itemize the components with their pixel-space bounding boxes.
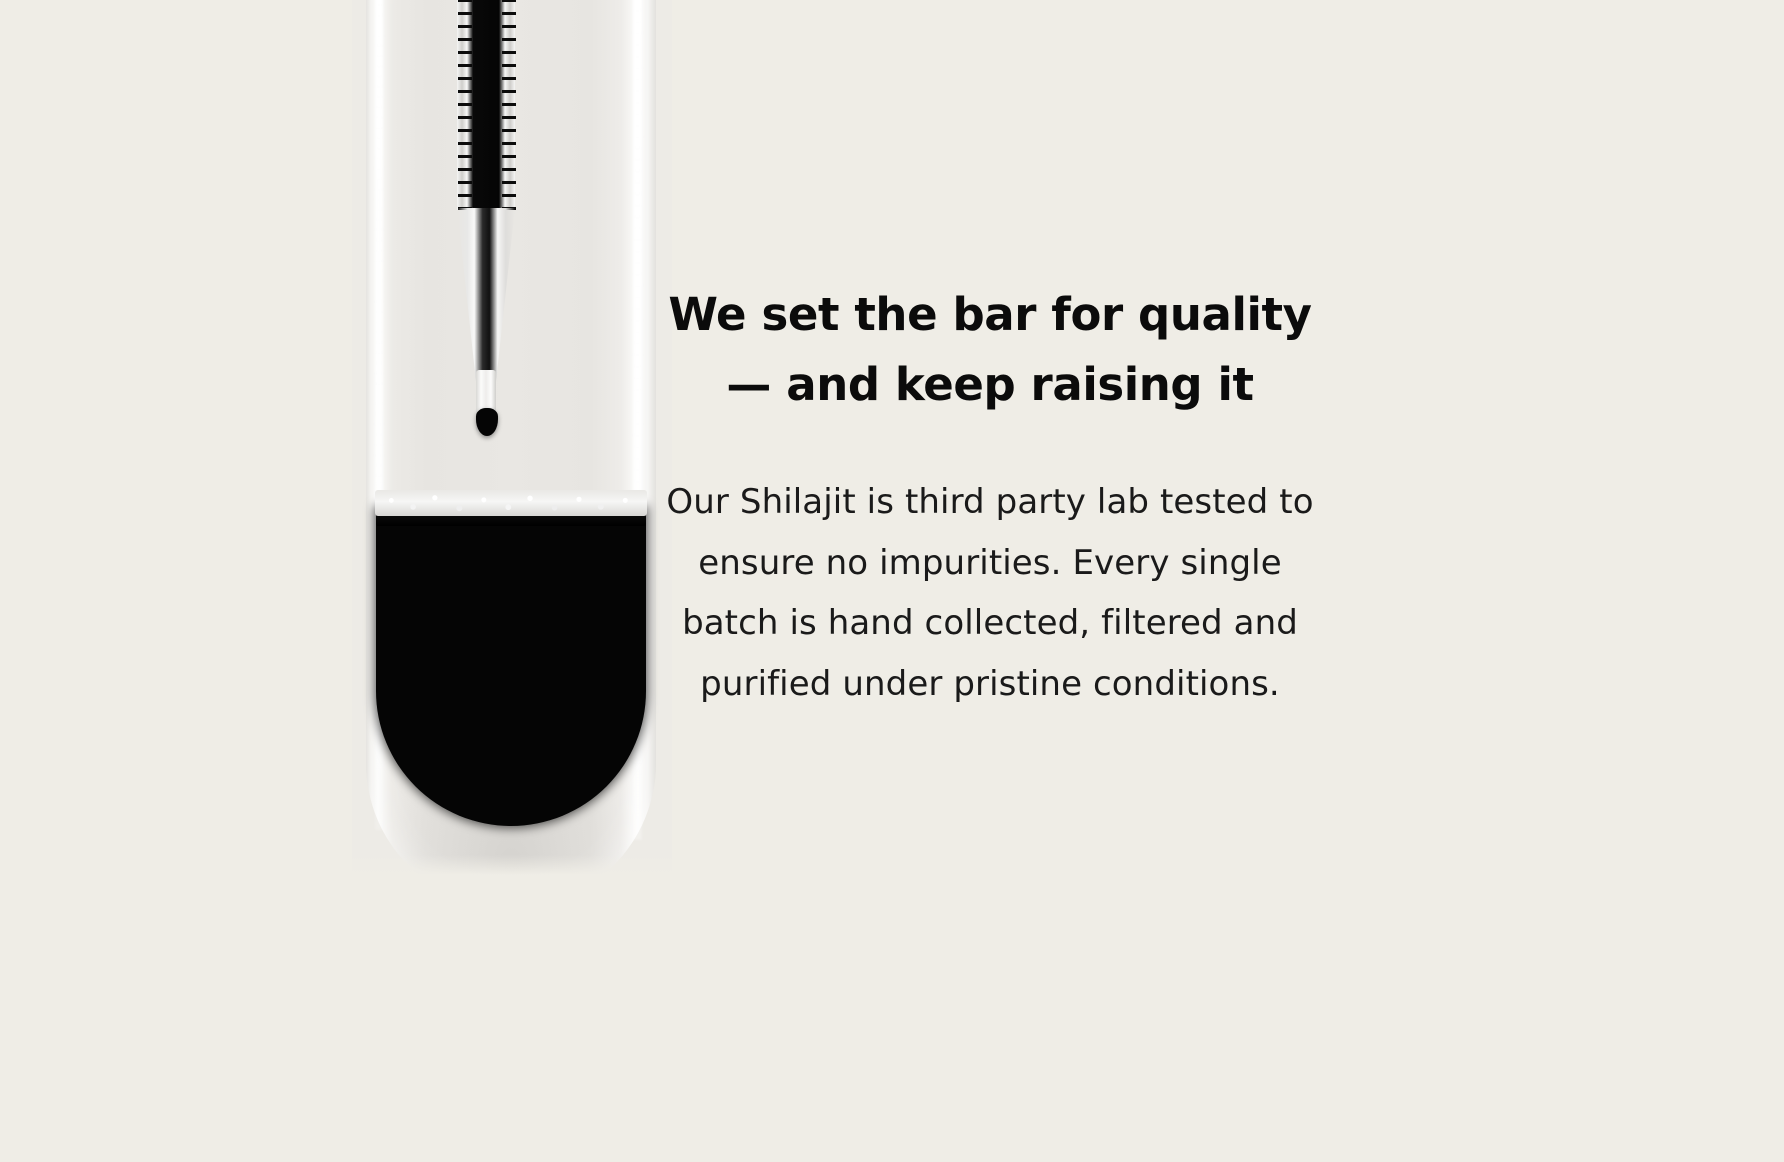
product-image-panel: [352, 0, 672, 1000]
copy-block: We set the bar for quality — and keep ra…: [640, 0, 1340, 1162]
section-headline: We set the bar for quality — and keep ra…: [660, 280, 1320, 420]
quality-section: We set the bar for quality — and keep ra…: [0, 0, 1784, 1162]
thermometer-ticks-left-icon: [458, 0, 472, 210]
thermometer-ticks-right-icon: [502, 0, 516, 210]
shilajit-resin: [376, 508, 646, 826]
foam-layer: [375, 490, 647, 516]
section-body-text: Our Shilajit is third party lab tested t…: [660, 472, 1320, 714]
